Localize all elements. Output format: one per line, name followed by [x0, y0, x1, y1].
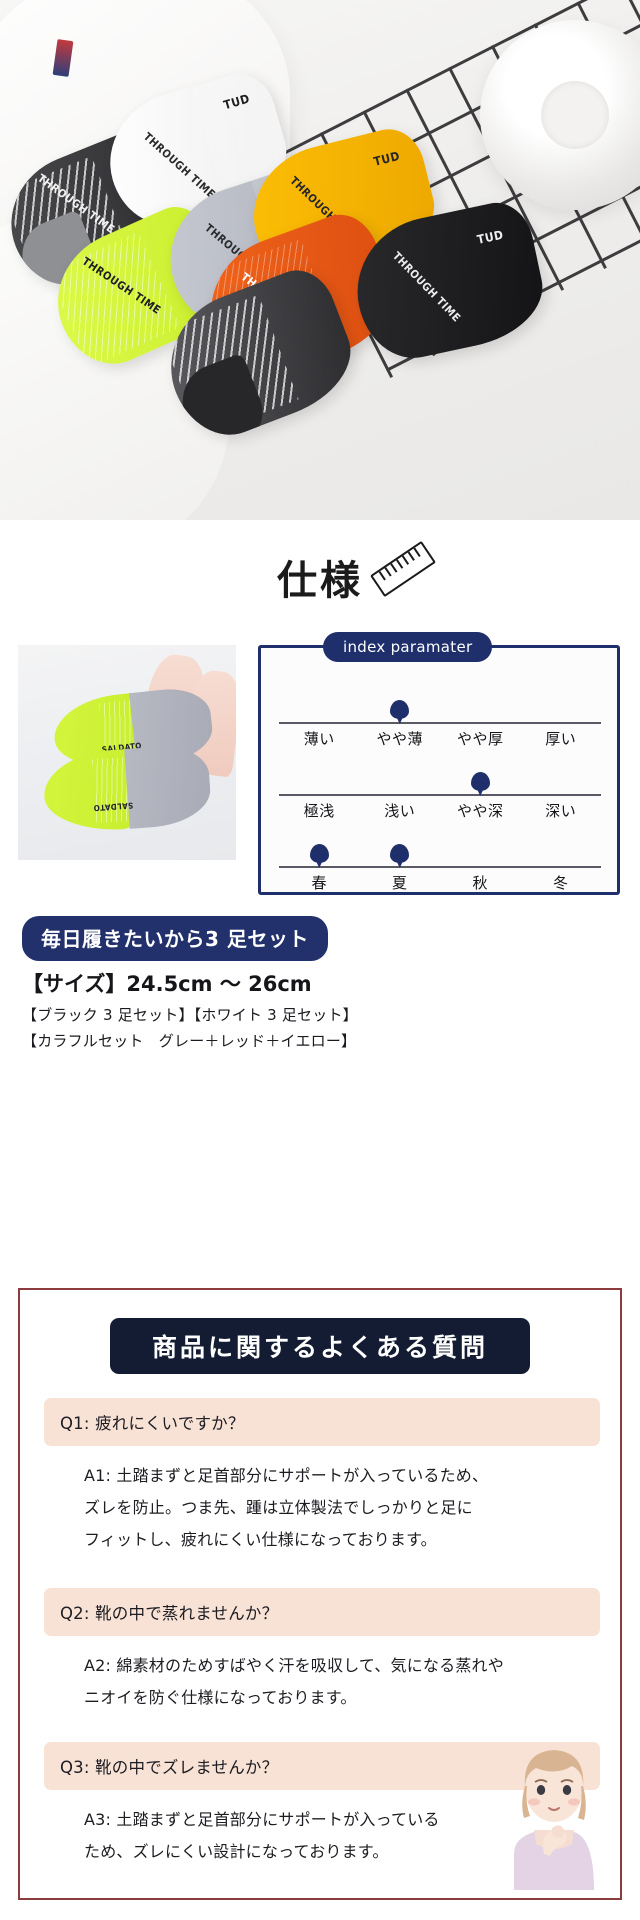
faq-answer-line: ズレを防止。つま先、踵は立体製法でしっかりと足に	[84, 1492, 590, 1524]
hero-product-photo: THROUGH TIME TUD THROUGH TIME THROUGH TI…	[0, 0, 640, 520]
thinking-woman-illustration	[494, 1742, 614, 1890]
spec-label: 深い	[521, 800, 602, 821]
spec-marker-pin	[310, 844, 329, 863]
faq-question[interactable]: Q2: 靴の中で蒸れませんか？	[44, 1588, 600, 1636]
spec-marker-pin	[471, 772, 490, 791]
set-line-1: 【ブラック 3 足セット】【ホワイト 3 足セット】	[22, 1004, 358, 1025]
set-line-2: 【カラフルセット グレー＋レッド＋イエロー】	[22, 1030, 356, 1051]
spec-label: 秋	[440, 872, 521, 893]
spec-label: 夏	[360, 872, 441, 893]
set-badge: 毎日履きたいから3 足セット	[22, 916, 328, 961]
sock-grey-body	[124, 743, 212, 829]
spec-label: 極浅	[279, 800, 360, 821]
spec-marker-pin	[390, 844, 409, 863]
sock-brand-text: SALDATO	[93, 801, 134, 812]
spec-label: 冬	[521, 872, 602, 893]
spec-row-labels: 春 夏 秋 冬	[279, 872, 601, 893]
faq-answer-line: A1: 土踏まずと足首部分にサポートが入っているため、	[84, 1460, 590, 1492]
spec-product-photo: SALDATO SALDATO	[18, 645, 236, 860]
faq-section: 商品に関するよくある質問 Q1: 疲れにくいですか？ A1: 土踏まずと足首部分…	[18, 1288, 622, 1900]
faq-answer-line: ニオイを防ぐ仕様になっております。	[84, 1682, 590, 1714]
faq-answer: A1: 土踏まずと足首部分にサポートが入っているため、 ズレを防止。つま先、踵は…	[44, 1446, 600, 1562]
faq-question[interactable]: Q1: 疲れにくいですか？	[44, 1398, 600, 1446]
spec-label: やや深	[440, 800, 521, 821]
spec-axis-line	[279, 794, 601, 796]
spec-label: 春	[279, 872, 360, 893]
spec-row-thickness: 薄い やや薄 やや厚 厚い	[279, 692, 601, 764]
spec-axis-line	[279, 722, 601, 724]
spec-label: やや厚	[440, 728, 521, 749]
spec-row-depth: 極浅 浅い やや深 深い	[279, 764, 601, 836]
specification-section: 仕様 SALDATO SALDATO index paramater 薄い やや…	[0, 520, 640, 1090]
spec-row-labels: 薄い やや薄 やや厚 厚い	[279, 728, 601, 749]
spec-label: やや薄	[360, 728, 441, 749]
size-line: 【サイズ】24.5cm 〜 26cm	[22, 968, 312, 998]
faq-heading: 商品に関するよくある質問	[110, 1318, 530, 1374]
page-title: 仕様	[0, 548, 640, 606]
sock-brand-text: THROUGH TIME	[141, 130, 218, 201]
sock-logo-text: TUD	[476, 228, 505, 247]
sock-on-foot-front: SALDATO	[41, 743, 212, 834]
sock-logo-text: TUD	[372, 149, 401, 169]
faq-answer-line: A2: 綿素材のためすばやく汗を吸収して、気になる蒸れや	[84, 1650, 590, 1682]
faq-answer: A2: 綿素材のためすばやく汗を吸収して、気になる蒸れや ニオイを防ぐ仕様になっ…	[44, 1636, 600, 1720]
spec-label: 厚い	[521, 728, 602, 749]
spec-marker-pin	[390, 700, 409, 719]
spec-label: 薄い	[279, 728, 360, 749]
sock-brand-text: THROUGH TIME	[390, 249, 463, 324]
index-parameter-panel: index paramater 薄い やや薄 やや厚 厚い 極浅 浅い やや深 …	[258, 645, 620, 895]
faq-item: Q1: 疲れにくいですか？ A1: 土踏まずと足首部分にサポートが入っているため…	[44, 1398, 600, 1562]
spec-row-labels: 極浅 浅い やや深 深い	[279, 800, 601, 821]
spec-row-season: 春 夏 秋 冬	[279, 836, 601, 908]
faq-answer-line: フィットし、疲れにくい仕様になっております。	[84, 1524, 590, 1556]
spec-axis-line	[279, 866, 601, 868]
spec-label: 浅い	[360, 800, 441, 821]
index-parameter-badge: index paramater	[323, 632, 492, 662]
faq-item: Q2: 靴の中で蒸れませんか？ A2: 綿素材のためすばやく汗を吸収して、気にな…	[44, 1588, 600, 1720]
